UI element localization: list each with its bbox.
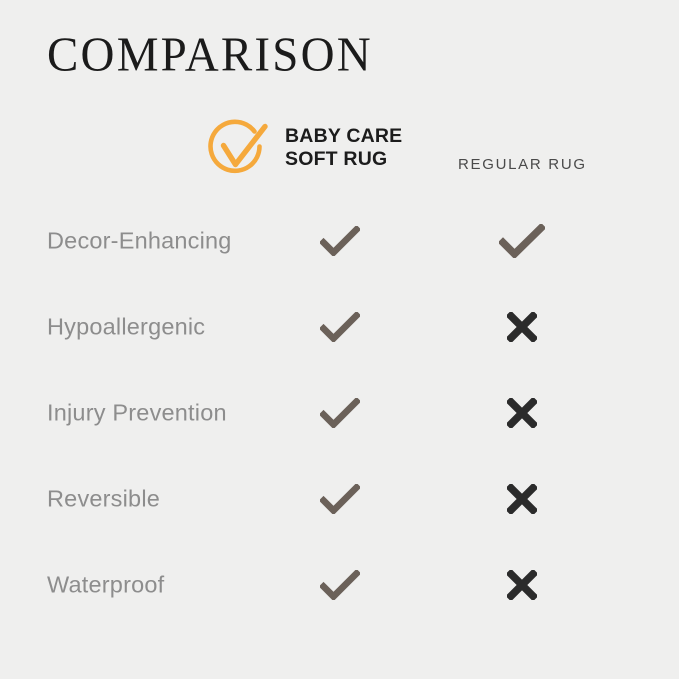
brand-name: BABY CARE SOFT RUG <box>285 125 402 171</box>
orange-circle-check-icon <box>208 117 270 179</box>
cross-icon <box>507 398 537 428</box>
baby-care-cell <box>310 563 370 607</box>
check-icon <box>499 224 545 258</box>
check-icon <box>320 312 360 342</box>
competitor-column-header: REGULAR RUG <box>458 156 587 173</box>
feature-label: Decor-Enhancing <box>47 228 232 255</box>
baby-care-cell <box>310 391 370 435</box>
cross-icon <box>507 484 537 514</box>
brand-name-line-1: BABY CARE <box>285 125 402 147</box>
cross-icon <box>507 312 537 342</box>
regular-rug-cell <box>492 219 552 263</box>
baby-care-cell <box>310 305 370 349</box>
baby-care-cell <box>310 219 370 263</box>
comparison-rows: Decor-Enhancing Hypoallergenic <box>0 198 679 628</box>
check-icon <box>320 398 360 428</box>
check-icon <box>320 484 360 514</box>
brand-column-header: BABY CARE SOFT RUG <box>208 112 402 184</box>
feature-label: Injury Prevention <box>47 400 227 427</box>
table-row: Injury Prevention <box>0 370 679 456</box>
regular-rug-cell <box>492 391 552 435</box>
regular-rug-cell <box>492 477 552 521</box>
comparison-page: COMPARISON BABY CARE SOFT RUG REGULAR RU… <box>0 0 679 679</box>
feature-label: Waterproof <box>47 572 164 599</box>
table-row: Hypoallergenic <box>0 284 679 370</box>
regular-rug-cell <box>492 305 552 349</box>
baby-care-cell <box>310 477 370 521</box>
brand-name-line-2: SOFT RUG <box>285 148 402 171</box>
table-row: Reversible <box>0 456 679 542</box>
feature-label: Hypoallergenic <box>47 314 205 341</box>
page-title: COMPARISON <box>47 30 373 81</box>
feature-label: Reversible <box>47 486 160 513</box>
comparison-header-row: BABY CARE SOFT RUG REGULAR RUG <box>0 112 679 184</box>
regular-rug-cell <box>492 563 552 607</box>
table-row: Decor-Enhancing <box>0 198 679 284</box>
table-row: Waterproof <box>0 542 679 628</box>
check-icon <box>320 226 360 256</box>
cross-icon <box>507 570 537 600</box>
check-icon <box>320 570 360 600</box>
